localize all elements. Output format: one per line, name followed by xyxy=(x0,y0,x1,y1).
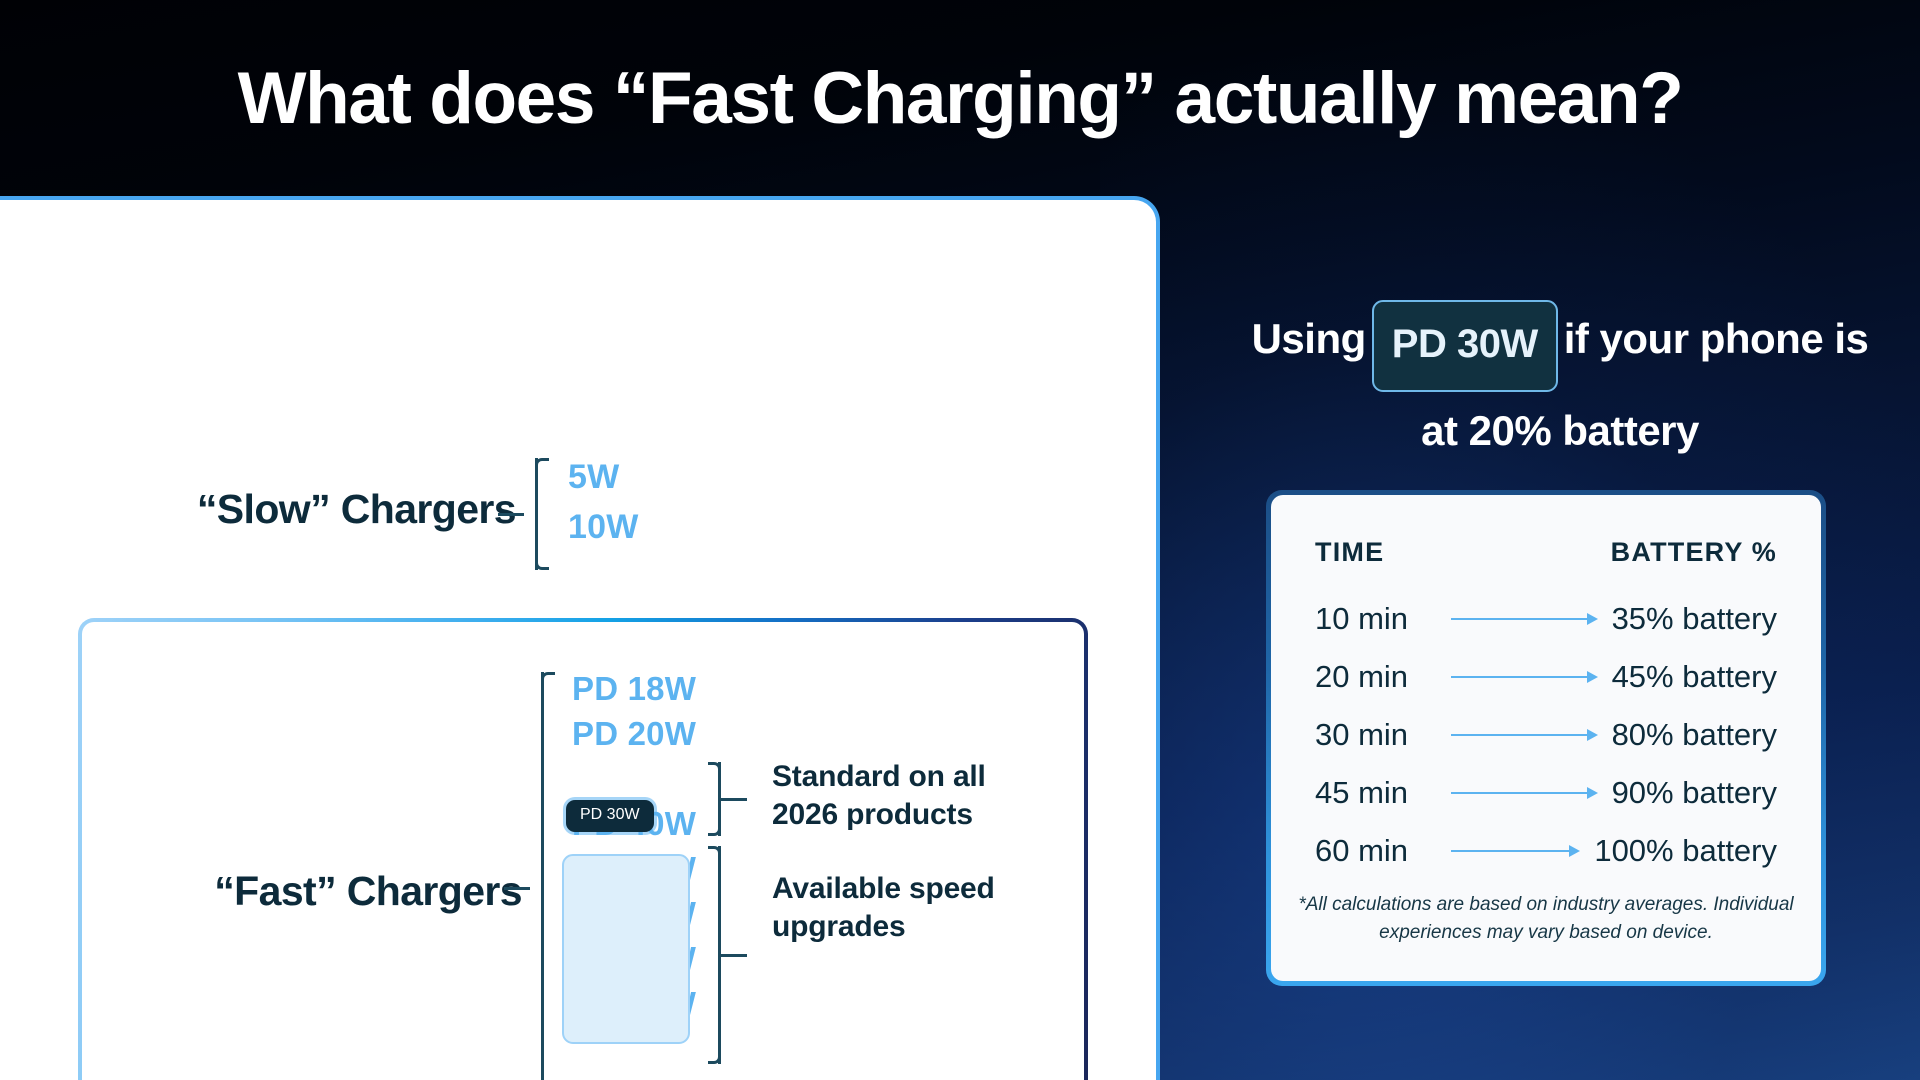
row-time: 45 min xyxy=(1315,775,1437,811)
list-item-spacer xyxy=(572,756,722,801)
pd-30w-heading-badge: PD 30W xyxy=(1372,300,1558,392)
slow-chargers-label: “Slow” Chargers xyxy=(116,486,516,533)
upgrades-annotation-bracket xyxy=(718,846,721,1064)
row-battery: 35% battery xyxy=(1612,601,1777,637)
slow-chargers-bracket xyxy=(524,458,550,570)
bracket-tick xyxy=(721,798,747,801)
standard-annotation-bracket xyxy=(718,762,721,836)
bracket-cap-top xyxy=(541,672,555,686)
row-battery: 100% battery xyxy=(1594,833,1777,869)
table-row: 20 min 45% battery xyxy=(1315,648,1777,706)
column-header-battery: BATTERY % xyxy=(1611,537,1777,568)
table-header-row: TIME BATTERY % xyxy=(1315,537,1777,568)
bracket-cap-top xyxy=(708,762,721,775)
bracket-tick xyxy=(721,954,747,957)
row-battery: 90% battery xyxy=(1612,775,1777,811)
bracket-cap-top xyxy=(708,846,721,859)
row-time: 30 min xyxy=(1315,717,1437,753)
table-row: 60 min 100% battery xyxy=(1315,822,1777,880)
bracket-tick xyxy=(504,887,530,890)
title-bar: What does “Fast Charging” actually mean? xyxy=(0,0,1920,196)
fast-chargers-box: “Fast” Chargers PD 18W PD 20W PD 40W xyxy=(78,618,1088,1080)
list-item-label: PD 18W xyxy=(572,670,696,708)
bracket-tick xyxy=(498,513,524,516)
pd-30w-label: PD 30W xyxy=(580,806,640,823)
table-footnote: *All calculations are based on industry … xyxy=(1271,891,1821,947)
row-battery: 45% battery xyxy=(1612,659,1777,695)
arrow-right-icon xyxy=(1451,676,1598,679)
bracket-line xyxy=(541,672,544,1080)
row-time: 60 min xyxy=(1315,833,1437,869)
list-item: 5W xyxy=(568,452,639,502)
page-title: What does “Fast Charging” actually mean? xyxy=(238,57,1683,140)
list-item: PD 18W xyxy=(572,666,722,711)
table-row: 10 min 35% battery xyxy=(1315,590,1777,648)
fast-chargers-label: “Fast” Chargers xyxy=(122,868,522,915)
arrow-right-icon xyxy=(1451,850,1580,853)
arrow-right-icon xyxy=(1451,792,1598,795)
left-panel: “Slow” Chargers 5W 10W “Fast” Chargers xyxy=(0,196,1160,1080)
row-time: 20 min xyxy=(1315,659,1437,695)
bracket-cap-top xyxy=(535,458,549,472)
upgrade-group-box xyxy=(562,854,690,1044)
row-battery: 80% battery xyxy=(1612,717,1777,753)
table-row: 45 min 90% battery xyxy=(1315,764,1777,822)
fast-chargers-list: PD 18W PD 20W PD 40W PD 50W PD 60W PD 65… xyxy=(572,666,722,1026)
column-header-time: TIME xyxy=(1315,537,1384,568)
right-panel-heading: UsingPD 30Wif your phone is at 20% batte… xyxy=(1230,300,1890,470)
battery-table-card: TIME BATTERY % 10 min 35% battery 20 min… xyxy=(1266,490,1826,986)
slow-chargers-group: “Slow” Chargers 5W 10W xyxy=(116,458,876,588)
battery-table-card-inner: TIME BATTERY % 10 min 35% battery 20 min… xyxy=(1271,495,1821,981)
list-item: 10W xyxy=(568,502,639,552)
heading-text-before: Using xyxy=(1252,315,1366,362)
list-item: PD 20W xyxy=(572,711,722,756)
arrow-right-icon xyxy=(1451,618,1598,621)
upgrades-annotation-text: Available speed upgrades xyxy=(772,870,1022,946)
slow-chargers-list: 5W 10W xyxy=(568,452,639,552)
fast-chargers-box-inner: “Fast” Chargers PD 18W PD 20W PD 40W xyxy=(82,622,1084,1080)
fast-chargers-bracket xyxy=(530,672,556,1080)
pd-30w-highlight-badge: PD 30W xyxy=(566,800,654,832)
row-time: 10 min xyxy=(1315,601,1437,637)
arrow-right-icon xyxy=(1451,734,1598,737)
table-row: 30 min 80% battery xyxy=(1315,706,1777,764)
bracket-cap-bottom xyxy=(535,556,549,570)
list-item-label: PD 20W xyxy=(572,715,696,753)
bracket-line xyxy=(535,458,538,570)
standard-annotation-text: Standard on all 2026 products xyxy=(772,758,1022,834)
